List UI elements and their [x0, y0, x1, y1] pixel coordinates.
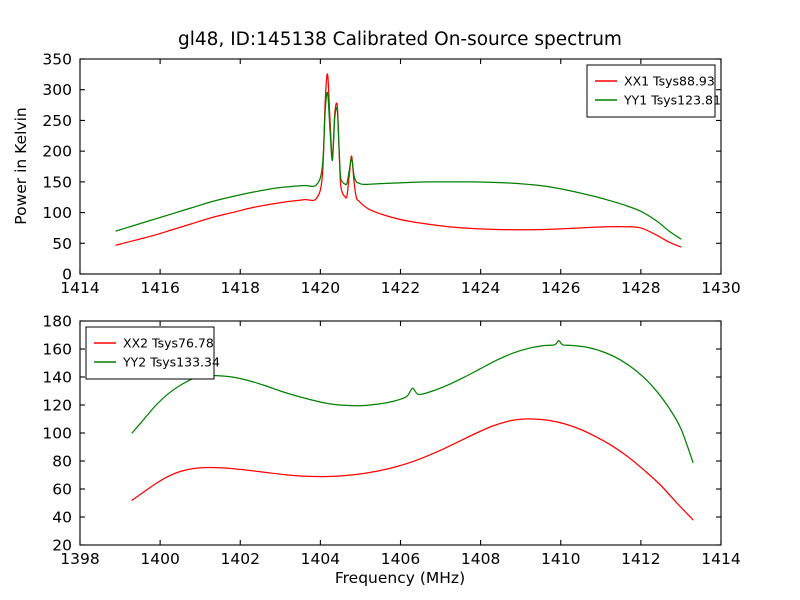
legend-label: YY1 Tsys123.81 — [623, 93, 721, 108]
bottom-ytick-label: 100 — [42, 425, 72, 443]
top-panel-ylabel: Power in Kelvin — [12, 107, 30, 224]
bottom-ytick-label: 60 — [52, 481, 72, 499]
legend-label: YY2 Tsys133.34 — [122, 355, 220, 370]
legend-label: XX2 Tsys76.78 — [123, 336, 214, 351]
top-ytick-label: 150 — [42, 173, 72, 191]
top-ytick-label: 300 — [42, 81, 72, 99]
top-ytick-label: 350 — [42, 51, 72, 69]
top-panel-legend[interactable]: XX1 Tsys88.93YY1 Tsys123.81 — [587, 65, 721, 117]
top-xtick-label: 1424 — [461, 279, 500, 297]
bottom-xtick-label: 1404 — [301, 550, 340, 568]
top-xtick-label: 1418 — [221, 279, 260, 297]
bottom-panel-legend[interactable]: XX2 Tsys76.78YY2 Tsys133.34 — [86, 327, 220, 379]
top-xtick-label: 1416 — [140, 279, 179, 297]
plot-canvas: gl48, ID:145138 Calibrated On-source spe… — [0, 0, 800, 600]
top-xtick-label: 1426 — [541, 279, 580, 297]
top-ytick-label: 0 — [62, 266, 72, 284]
bottom-ytick-label: 20 — [52, 537, 72, 555]
bottom-ytick-label: 160 — [42, 341, 72, 359]
top-ytick-label: 50 — [52, 235, 72, 253]
top-xtick-label: 1430 — [701, 279, 740, 297]
top-ytick-label: 250 — [42, 112, 72, 130]
bottom-xtick-label: 1414 — [701, 550, 740, 568]
top-ytick-label: 100 — [42, 204, 72, 222]
bottom-ytick-label: 140 — [42, 369, 72, 387]
bottom-xtick-label: 1406 — [381, 550, 420, 568]
spectrum-figure: gl48, ID:145138 Calibrated On-source spe… — [0, 0, 800, 600]
bottom-xtick-label: 1400 — [140, 550, 179, 568]
bottom-panel-xlabel: Frequency (MHz) — [335, 569, 465, 587]
top-xtick-label: 1422 — [381, 279, 420, 297]
bottom-xtick-label: 1410 — [541, 550, 580, 568]
bottom-ytick-label: 180 — [42, 313, 72, 331]
page-title: gl48, ID:145138 Calibrated On-source spe… — [178, 29, 622, 50]
bottom-ytick-label: 40 — [52, 509, 72, 527]
bottom-ytick-label: 120 — [42, 397, 72, 415]
top-xtick-label: 1420 — [301, 279, 340, 297]
bottom-ytick-label: 80 — [52, 453, 72, 471]
bottom-xtick-label: 1408 — [461, 550, 500, 568]
bottom-xtick-label: 1402 — [221, 550, 260, 568]
top-xtick-label: 1428 — [621, 279, 660, 297]
top-ytick-label: 200 — [42, 143, 72, 161]
legend-label: XX1 Tsys88.93 — [624, 74, 715, 89]
bottom-xtick-label: 1412 — [621, 550, 660, 568]
